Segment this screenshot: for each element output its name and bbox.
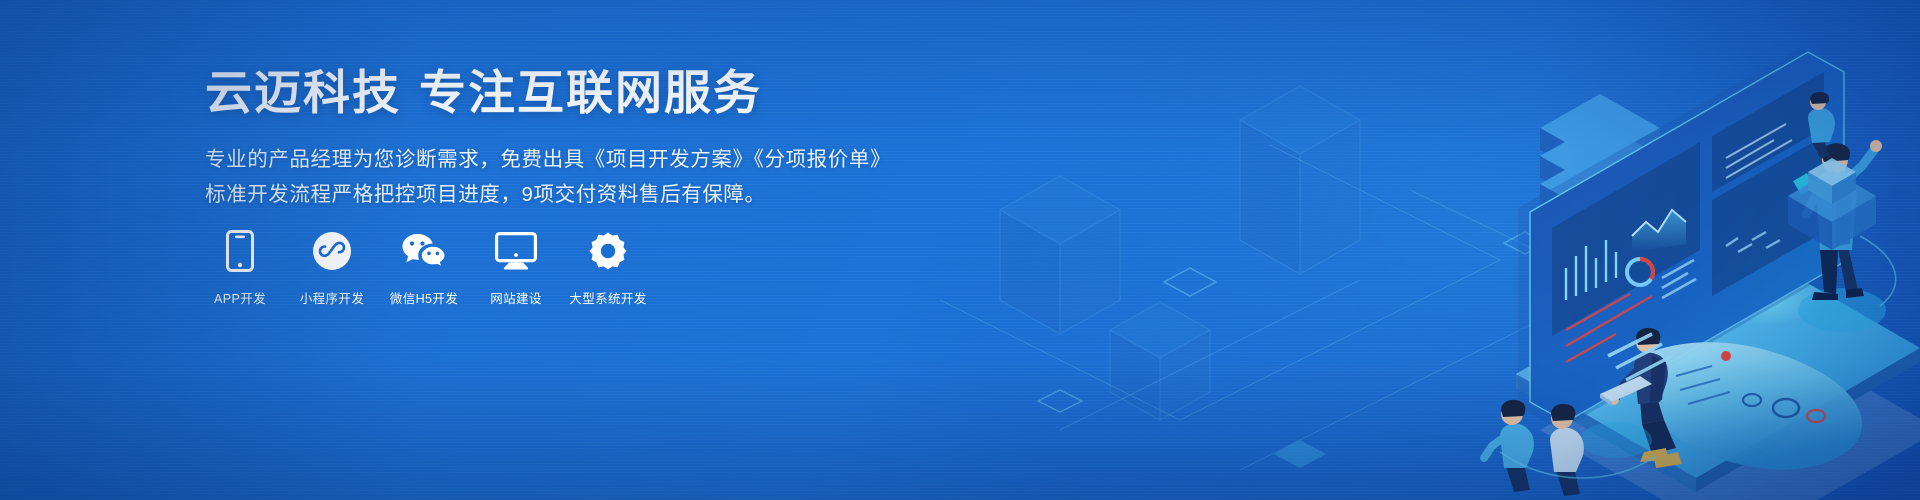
subtitle-line-2: 标准开发流程严格把控项目进度，9项交付资料售后有保障。 xyxy=(205,177,925,212)
service-label: APP开发 xyxy=(214,288,266,307)
hero-banner: 云迈科技专注互联网服务 专业的产品经理为您诊断需求，免费出具《项目开发方案》《分… xyxy=(0,0,1920,500)
service-item-mini-program[interactable]: 小程序开发 xyxy=(297,228,367,307)
page-title: 云迈科技专注互联网服务 xyxy=(205,66,925,120)
service-label: 微信H5开发 xyxy=(390,288,458,307)
banner-copy: 云迈科技专注互联网服务 专业的产品经理为您诊断需求，免费出具《项目开发方案》《分… xyxy=(205,66,925,212)
service-label: 小程序开发 xyxy=(300,288,365,307)
service-icon-list: APP开发 小程序开发 微信 xyxy=(205,228,643,307)
gear-icon xyxy=(573,228,643,274)
service-item-wechat-h5[interactable]: 微信H5开发 xyxy=(389,228,459,307)
headline-tagline: 专注互联网服务 xyxy=(419,66,762,119)
mobile-phone-icon xyxy=(205,228,275,274)
isometric-tech-illustration xyxy=(940,0,1920,500)
service-item-large-system[interactable]: 大型系统开发 xyxy=(573,228,643,307)
service-item-website[interactable]: 网站建设 xyxy=(481,228,551,307)
headline-brand: 云迈科技 xyxy=(205,66,401,119)
mini-program-icon xyxy=(297,228,367,274)
service-item-app[interactable]: APP开发 xyxy=(205,228,275,307)
wechat-icon xyxy=(389,228,459,274)
monitor-icon xyxy=(481,228,551,274)
service-label: 大型系统开发 xyxy=(569,288,646,307)
subtitle-line-1: 专业的产品经理为您诊断需求，免费出具《项目开发方案》《分项报价单》 xyxy=(205,142,925,177)
service-label: 网站建设 xyxy=(490,288,542,307)
